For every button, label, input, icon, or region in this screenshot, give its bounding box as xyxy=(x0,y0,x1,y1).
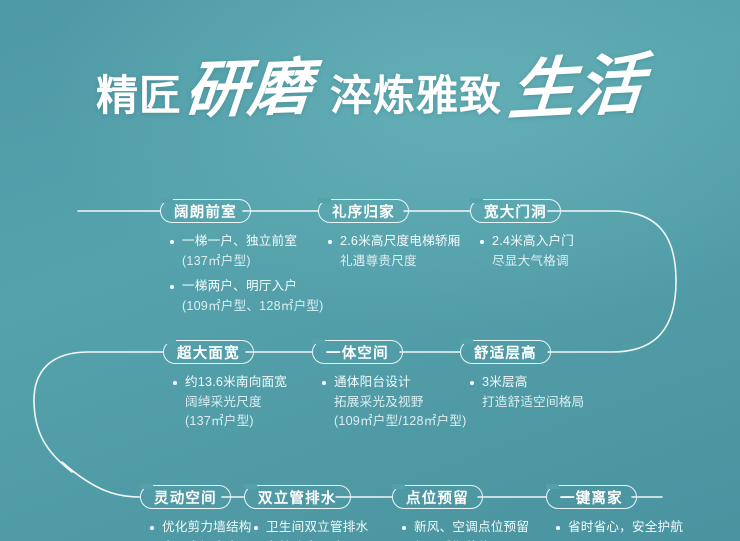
feature-label-chaodamiankuan[interactable]: 超大面宽 xyxy=(163,340,254,364)
feature-cell-lingdongkongjian: 灵动空间 优化剪力墙结构 实现空间多变 xyxy=(140,485,252,541)
list-item: (109㎡户型/128㎡户型) xyxy=(321,412,466,432)
feature-label-kuandamendong[interactable]: 宽大门洞 xyxy=(470,199,561,223)
feature-cell-kuolangqianshi: 阔朗前室 一梯一户、独立前室 (137㎡户型) 一梯两户、明厅入户 (109㎡户… xyxy=(160,199,324,316)
list-item: 拓展采光及视野 xyxy=(321,393,466,413)
headline: 精匠 研磨 淬炼雅致 生活 xyxy=(0,36,740,128)
feature-label-yijianlijia[interactable]: 一键离家 xyxy=(546,485,637,509)
list-item: 一梯一户、独立前室 xyxy=(169,232,324,252)
feature-cell-dianweiyuliu: 点位预留 新风、空调点位预留 便于后期装修 xyxy=(392,485,529,541)
feature-label-shushicenggao[interactable]: 舒适层高 xyxy=(460,340,551,364)
list-item: 通体阳台设计 xyxy=(321,373,466,393)
list-item: 卫生间双立管排水 xyxy=(253,518,368,538)
feature-list-kuolangqianshi: 一梯一户、独立前室 (137㎡户型) 一梯两户、明厅入户 (109㎡户型、128… xyxy=(160,232,324,316)
feature-label-yitikongjian[interactable]: 一体空间 xyxy=(312,340,403,364)
feature-cell-shuanglihuanpaishui: 双立管排水 卫生间双立管排水 有效防止异味 xyxy=(244,485,368,541)
list-item: 实现空间多变 xyxy=(149,538,252,541)
list-item: 新风、空调点位预留 xyxy=(401,518,529,538)
list-item: 优化剪力墙结构 xyxy=(149,518,252,538)
feature-cell-lixuguijia: 礼序归家 2.6米高尺度电梯轿厢 礼遇尊贵尺度 xyxy=(318,199,460,271)
feature-label-lingdongkongjian[interactable]: 灵动空间 xyxy=(140,485,231,509)
feature-cell-kuandamendong: 宽大门洞 2.4米高入户门 尽显大气格调 xyxy=(470,199,574,271)
list-item: 打造舒适空间格局 xyxy=(469,393,584,413)
list-item: 一梯两户、明厅入户 xyxy=(169,277,324,297)
feature-list-kuandamendong: 2.4米高入户门 尽显大气格调 xyxy=(470,232,574,271)
list-item: 3米层高 xyxy=(469,373,584,393)
list-item: (137㎡户型) xyxy=(172,412,287,432)
headline-segment-a: 精匠 xyxy=(96,62,182,123)
list-item: (109㎡户型、128㎡户型) xyxy=(169,297,324,317)
feature-list-yijianlijia: 省时省心，安全护航 xyxy=(546,518,683,538)
list-item: 2.4米高入户门 xyxy=(479,232,574,252)
feature-label-dianweiyuliu[interactable]: 点位预留 xyxy=(392,485,483,509)
feature-list-yitikongjian: 通体阳台设计 拓展采光及视野 (109㎡户型/128㎡户型) xyxy=(312,373,466,432)
list-item: 便于后期装修 xyxy=(401,538,529,541)
list-item: 有效防止异味 xyxy=(253,538,368,541)
headline-segment-c: 淬炼雅致 xyxy=(330,62,502,123)
list-item: 礼遇尊贵尺度 xyxy=(327,252,460,272)
feature-list-shuanglihuanpaishui: 卫生间双立管排水 有效防止异味 xyxy=(244,518,368,541)
headline-segment-b: 研磨 xyxy=(182,36,316,130)
list-item: 2.6米高尺度电梯轿厢 xyxy=(327,232,460,252)
list-item: (137㎡户型) xyxy=(169,252,324,272)
feature-list-lixuguijia: 2.6米高尺度电梯轿厢 礼遇尊贵尺度 xyxy=(318,232,460,271)
feature-list-chaodamiankuan: 约13.6米南向面宽 阔绰采光尺度 (137㎡户型) xyxy=(163,373,287,432)
feature-label-shuanglihuanpaishui[interactable]: 双立管排水 xyxy=(244,485,351,509)
headline-segment-d: 生活 xyxy=(505,31,648,134)
feature-label-lixuguijia[interactable]: 礼序归家 xyxy=(318,199,409,223)
feature-list-shushicenggao: 3米层高 打造舒适空间格局 xyxy=(460,373,584,412)
feature-cell-yijianlijia: 一键离家 省时省心，安全护航 xyxy=(546,485,683,538)
feature-cell-chaodamiankuan: 超大面宽 约13.6米南向面宽 阔绰采光尺度 (137㎡户型) xyxy=(163,340,287,432)
list-item: 省时省心，安全护航 xyxy=(555,518,683,538)
feature-cell-shushicenggao: 舒适层高 3米层高 打造舒适空间格局 xyxy=(460,340,584,412)
headline-text: 精匠 研磨 淬炼雅致 生活 xyxy=(96,34,644,130)
feature-cell-yitikongjian: 一体空间 通体阳台设计 拓展采光及视野 (109㎡户型/128㎡户型) xyxy=(312,340,466,432)
list-item: 约13.6米南向面宽 xyxy=(172,373,287,393)
list-item: 阔绰采光尺度 xyxy=(172,393,287,413)
feature-label-kuolangqianshi[interactable]: 阔朗前室 xyxy=(160,199,251,223)
feature-list-lingdongkongjian: 优化剪力墙结构 实现空间多变 xyxy=(140,518,252,541)
feature-list-dianweiyuliu: 新风、空调点位预留 便于后期装修 xyxy=(392,518,529,541)
list-item: 尽显大气格调 xyxy=(479,252,574,272)
